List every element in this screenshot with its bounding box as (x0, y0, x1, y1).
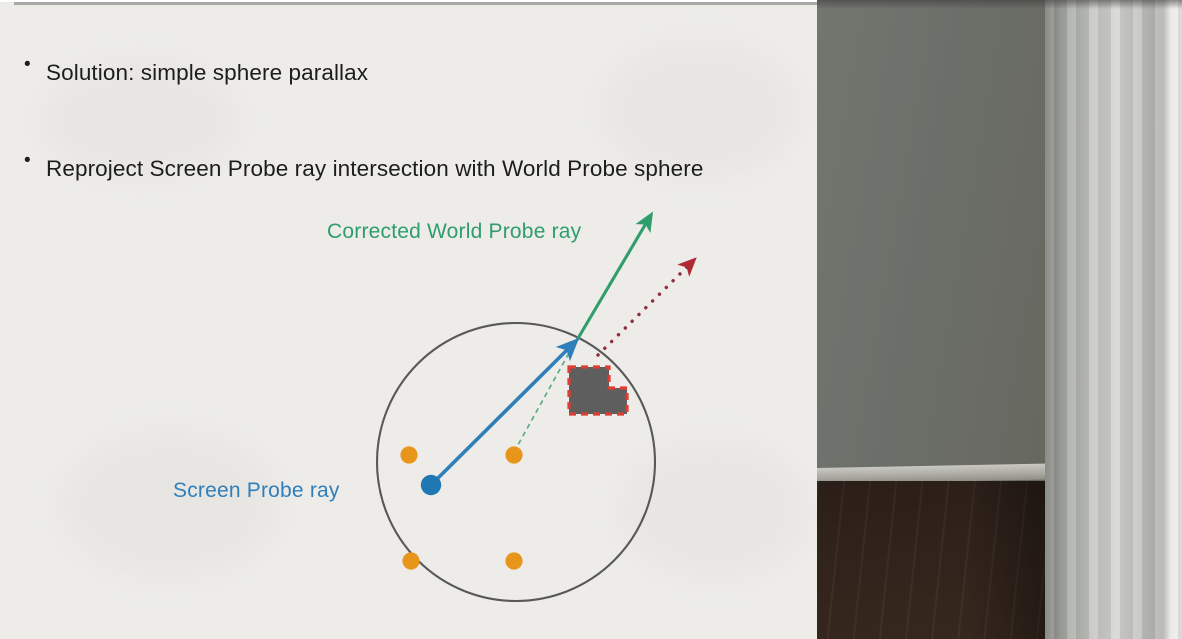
corrected-world-probe-ray (577, 220, 648, 340)
slide-panel: • Solution: simple sphere parallax • Rep… (0, 0, 817, 639)
world-probe-dot (400, 446, 417, 463)
world-probe-dashed-ray (514, 344, 574, 452)
video-top-vignette (817, 0, 1182, 9)
occluder-block (569, 367, 627, 414)
screen-probe-ray-label: Screen Probe ray (173, 479, 340, 503)
webcam-video-feed (817, 0, 1182, 639)
world-probe-dot (402, 552, 419, 569)
screen-probe-ray (431, 346, 571, 485)
screen-probe-origin-dot (421, 475, 441, 495)
world-probe-dot (505, 446, 522, 463)
uncorrected-world-probe-ray (598, 264, 690, 355)
sphere-parallax-diagram (0, 0, 817, 639)
presentation-screen: • Solution: simple sphere parallax • Rep… (0, 0, 1182, 639)
world-probe-dot (505, 552, 522, 569)
corrected-world-probe-ray-label: Corrected World Probe ray (327, 220, 581, 244)
window-curtain (1045, 0, 1169, 639)
right-edge-strip (1178, 0, 1182, 639)
